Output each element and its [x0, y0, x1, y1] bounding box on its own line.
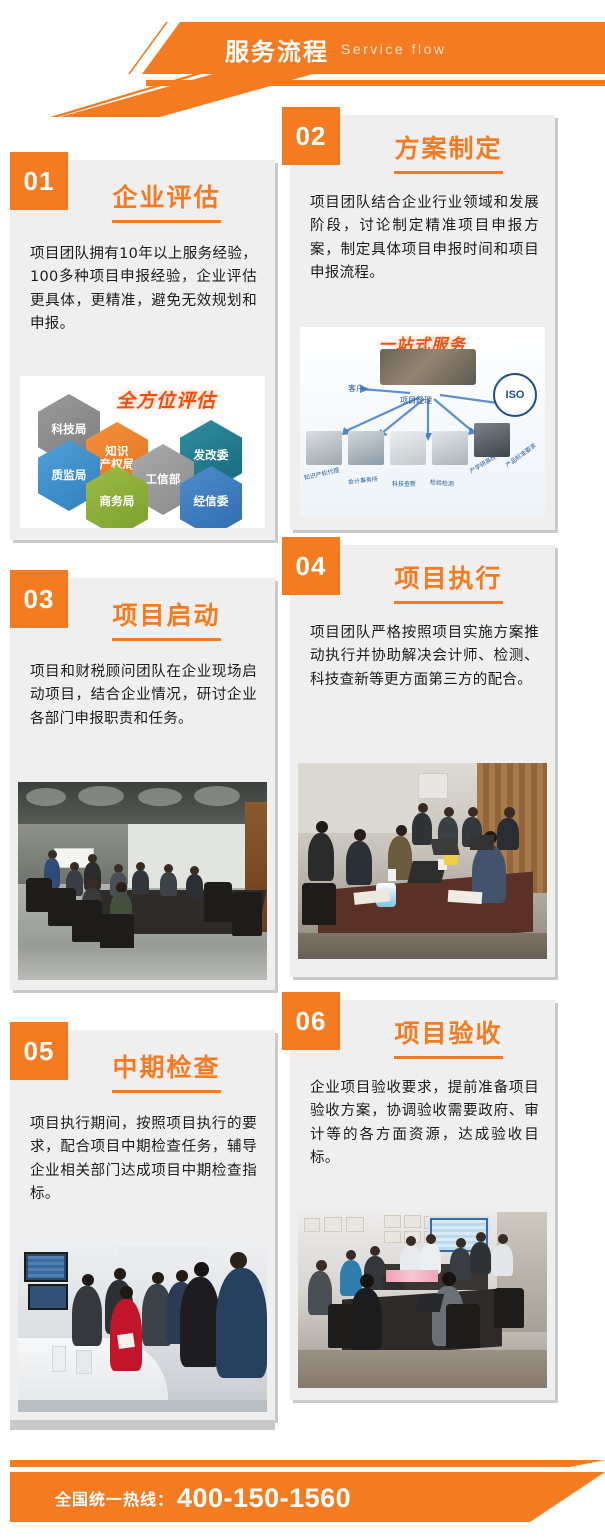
step-body-06: 企业项目验收要求，提前准备项目验收方案，协调验收需要政府、审计等的各方面资源，达… [310, 1077, 539, 1171]
step-card-06[interactable]: 06 项目验收 企业项目验收要求，提前准备项目验收方案，协调验收需要政府、审计等… [290, 1000, 555, 1400]
header-chevron-primary [60, 72, 320, 117]
conference-room-kickoff-photo [18, 782, 267, 980]
step-title-06: 项目验收 [394, 1014, 502, 1059]
step-number-05: 05 [10, 1022, 68, 1080]
one-stop-service-diagram: 一站式服务 客户 项目经理 ISO 知识产权代理 [300, 327, 545, 517]
step-card-02[interactable]: 02 方案制定 项目团队结合企业行业领域和发展阶段，讨论制定精准项目申报方案，制… [290, 115, 555, 530]
onestop-tile-2 [348, 431, 384, 465]
page-subtitle: Service flow [341, 41, 446, 57]
onestop-tile-1 [306, 431, 342, 465]
step-card-04[interactable]: 04 项目执行 项目团队严格按照项目实施方案推动执行并协助解决会计师、检测、科技… [290, 545, 555, 977]
header-title-group: 服务流程 Service flow [225, 28, 446, 70]
step-number-03: 03 [10, 570, 68, 628]
onestop-tile-3 [390, 431, 426, 465]
onestop-tile-4 [432, 431, 468, 465]
step-card-01[interactable]: 01 企业评估 项目团队拥有10年以上服务经验，100多种项目申报经验，企业评估… [10, 160, 275, 540]
onestop-label-customer: 客户 [348, 383, 364, 394]
step-title-05: 中期检查 [112, 1048, 220, 1093]
step-body-03: 项目和财税顾问团队在企业现场启动项目，结合企业情况，研讨企业各部门申报职责和任务… [30, 661, 257, 731]
page-title: 服务流程 [225, 32, 329, 67]
page-header: 服务流程 Service flow [0, 0, 605, 112]
onestop-caption-2: 科技查新 [392, 479, 416, 488]
step-number-04: 04 [282, 537, 340, 595]
step-title-02: 方案制定 [394, 129, 502, 174]
footer-gray-divider [10, 1420, 275, 1430]
hex-diagram-title: 全方位评估 [116, 386, 216, 413]
hotline-label: 全国统一热线： [55, 1486, 174, 1510]
acceptance-meeting-photo [298, 1212, 547, 1388]
onestop-arrow-lines [300, 327, 545, 517]
step-number-01: 01 [10, 152, 68, 210]
step-title-04: 项目执行 [394, 559, 502, 604]
page-footer: 全国统一热线： 400-150-1560 [0, 1420, 605, 1538]
step-number-02: 02 [282, 107, 340, 165]
footer-accent-line [10, 1460, 605, 1467]
team-working-meeting-photo [298, 763, 547, 959]
step-body-05: 项目执行期间，按照项目执行的要求，配合项目中期检查任务，辅导企业相关部门达成项目… [30, 1113, 257, 1207]
hotline-number[interactable]: 400-150-1560 [177, 1483, 351, 1514]
step-number-06: 06 [282, 992, 340, 1050]
onestop-iso-seal: ISO [493, 373, 537, 417]
step-body-04: 项目团队严格按照项目实施方案推动执行并协助解决会计师、检测、科技查新等更方面第三… [310, 622, 539, 692]
comprehensive-assessment-hexagon-diagram: 全方位评估 科技局 知识产权局 发改委 质监局 工信部 商务局 经信委 [20, 376, 265, 528]
step-body-01: 项目团队拥有10年以上服务经验，100多种项目申报经验，企业评估更具体，更精准，… [30, 243, 257, 337]
step-body-02: 项目团队结合企业行业领域和发展阶段，讨论制定精准项目申报方案，制定具体项目申报时… [310, 192, 539, 286]
step-card-05[interactable]: 05 中期检查 项目执行期间，按照项目执行的要求，配合项目中期检查任务，辅导企业… [10, 1030, 275, 1420]
header-underline [146, 80, 605, 86]
site-inspection-photo [18, 1238, 267, 1412]
step-card-03[interactable]: 03 项目启动 项目和财税顾问团队在企业现场启动项目，结合企业情况，研讨企业各部… [10, 578, 275, 990]
step-title-01: 企业评估 [112, 178, 220, 223]
hotline-group[interactable]: 全国统一热线： 400-150-1560 [55, 1480, 351, 1516]
step-title-03: 项目启动 [112, 596, 220, 641]
onestop-label-manager: 项目经理 [400, 395, 432, 406]
